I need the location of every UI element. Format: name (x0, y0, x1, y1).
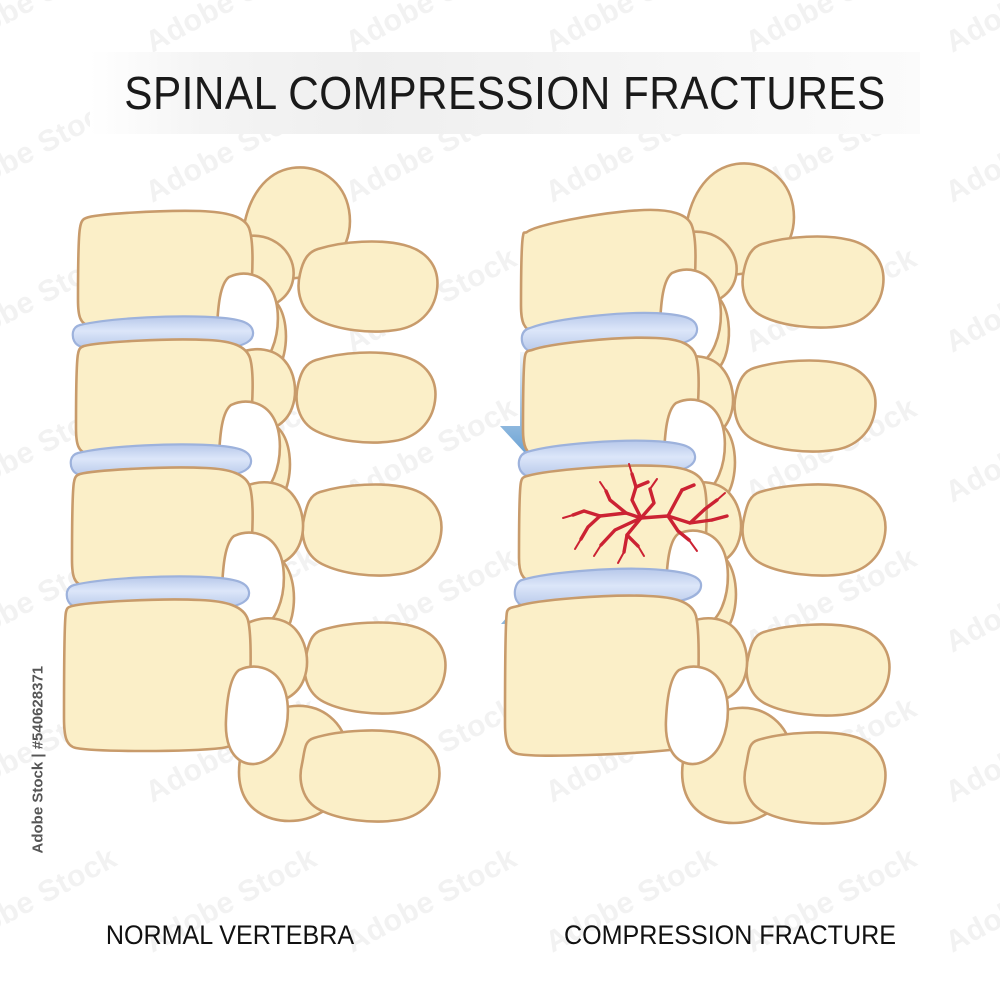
title-band: SPINAL COMPRESSION FRACTURES (90, 52, 920, 134)
vertebra-4-fracture (505, 596, 889, 824)
lamina-2-fracture (735, 361, 876, 452)
compression-fracture-column (505, 163, 889, 823)
vertebral-foramen-4-normal (226, 667, 288, 764)
lamina-1-fracture (743, 237, 884, 328)
page-title: SPINAL COMPRESSION FRACTURES (123, 52, 887, 134)
vertebra-4-normal (64, 599, 445, 821)
spine-illustration-svg (0, 0, 1000, 987)
inferior-articular-process-4-normal (301, 731, 440, 822)
lamina-4-normal (305, 623, 446, 714)
lamina-2-normal (297, 353, 436, 443)
lamina-4-fracture (747, 625, 890, 716)
normal-vertebra-column (64, 167, 445, 821)
vertebral-body-4-normal (64, 599, 251, 751)
lamina-3-normal (303, 485, 442, 576)
caption-normal-vertebra: NORMAL VERTEBRA (72, 920, 388, 951)
vertebral-foramen-4-fracture (666, 667, 728, 764)
inferior-articular-process-4-fracture (745, 733, 886, 824)
stock-credit-label: Adobe Stock | #540628371 (30, 654, 47, 854)
lamina-3-fracture (743, 485, 886, 576)
spine-figure (0, 0, 1000, 987)
lamina-1-normal (299, 242, 438, 332)
illustration-canvas: Adobe StockAdobe StockAdobe StockAdobe S… (0, 0, 1000, 987)
caption-compression-fracture: COMPRESSION FRACTURE (544, 920, 916, 951)
